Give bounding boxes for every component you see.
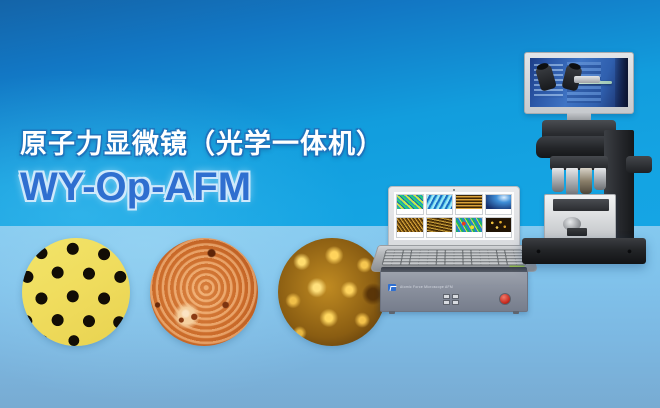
controller-port-panel[interactable] xyxy=(443,294,459,305)
webcam-icon xyxy=(453,189,455,191)
granite-base xyxy=(522,238,646,264)
scan-thumbnail xyxy=(396,194,424,215)
objective-lens xyxy=(580,168,592,194)
base-mount-hole xyxy=(536,249,541,254)
scan-thumbnail-image xyxy=(427,218,453,232)
keyboard-key xyxy=(383,262,392,264)
product-banner: 原子力显微镜（光学一体机） WY-Op-AFM xyxy=(0,0,660,408)
scan-thumbnail-caption xyxy=(397,209,423,214)
scan-thumbnail xyxy=(455,194,483,215)
scan-thumbnail-caption xyxy=(427,232,453,237)
objective-lens xyxy=(552,168,564,192)
scan-thumbnail-caption xyxy=(456,232,482,237)
scanner-positioning-rod xyxy=(574,76,600,83)
keyboard-key xyxy=(472,262,480,264)
keyboard-key xyxy=(454,262,462,264)
sample-holder-plate xyxy=(567,228,587,236)
company-logo-icon xyxy=(388,284,396,291)
scan-thumbnail xyxy=(396,217,424,238)
scan-thumbnail-caption xyxy=(427,209,453,214)
keyboard-key xyxy=(481,262,490,264)
keyboard-key xyxy=(410,262,419,264)
base-mount-hole xyxy=(627,249,632,254)
afm-optical-microscope xyxy=(504,52,656,342)
afm-sample-image-spiral xyxy=(150,238,258,346)
keyboard-key xyxy=(419,262,428,264)
keyboard-key xyxy=(392,262,401,264)
scan-thumbnail-image xyxy=(456,195,482,209)
keyboard-key xyxy=(436,262,444,264)
controller-brand-label: Atomic Force Microscope AFM xyxy=(400,285,453,289)
keyboard-key xyxy=(463,262,471,264)
scan-thumbnail xyxy=(455,217,483,238)
objective-lens xyxy=(594,168,606,190)
scan-thumbnail-caption xyxy=(456,209,482,214)
scan-thumbnail-image xyxy=(397,218,423,232)
laptop-lid xyxy=(388,186,520,248)
controller-port[interactable] xyxy=(452,294,459,299)
scan-thumbnail-image xyxy=(397,195,423,209)
afm-scanner-stage xyxy=(544,194,616,240)
controller-foot xyxy=(389,311,395,314)
keyboard-key xyxy=(445,262,453,264)
screen-vignette xyxy=(615,58,628,107)
keyboard-key xyxy=(401,262,410,264)
product-model-name: WY-Op-AFM xyxy=(20,165,251,210)
scan-thumbnail-image xyxy=(456,218,482,232)
controller-port[interactable] xyxy=(443,294,450,299)
scanner-slot xyxy=(553,199,609,211)
keyboard-key xyxy=(490,262,499,264)
keyboard-key xyxy=(427,262,435,264)
page-title: 原子力显微镜（光学一体机） xyxy=(20,122,384,161)
controller-port[interactable] xyxy=(443,300,450,305)
afm-sample-image-nanoparticle xyxy=(278,238,386,346)
scan-thumbnail xyxy=(426,217,454,238)
scan-thumbnail-caption xyxy=(397,232,423,237)
objective-lens xyxy=(566,168,578,196)
scan-thumbnail-image xyxy=(427,195,453,209)
controller-port[interactable] xyxy=(452,300,459,305)
afm-sample-image-nanoporous xyxy=(22,238,130,346)
scan-thumbnail xyxy=(426,194,454,215)
laptop-screen xyxy=(394,192,514,240)
focus-knob[interactable] xyxy=(626,156,652,173)
